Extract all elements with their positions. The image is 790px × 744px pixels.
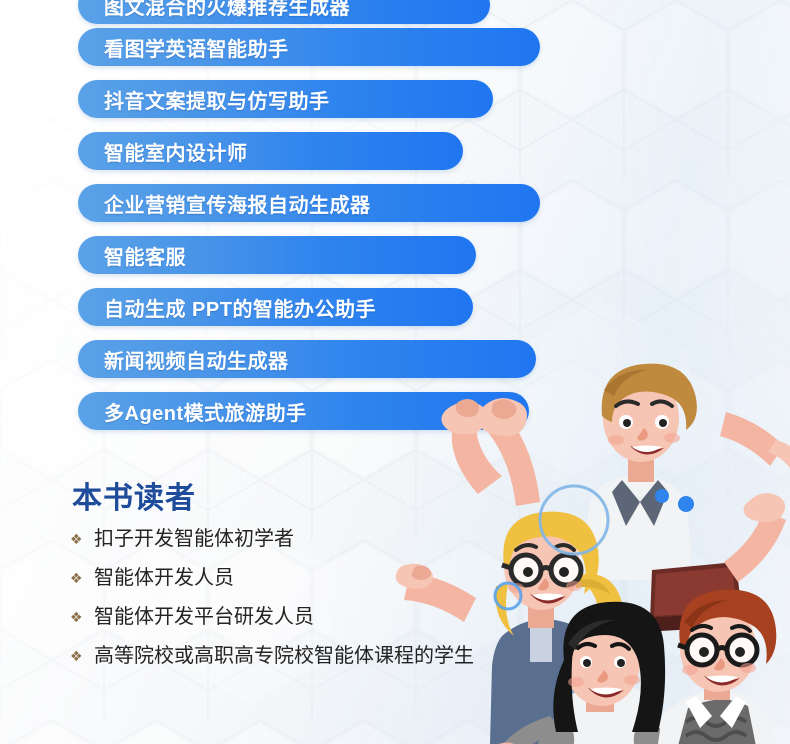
feature-pill-label: 智能室内设计师 [104, 137, 248, 166]
book-promo-page: 图文混合的火爆推荐生成器 看图学英语智能助手 抖音文案提取与仿写助手 智能室内设… [0, 0, 790, 744]
feature-pill[interactable]: 多Agent模式旅游助手 [78, 392, 529, 430]
feature-pill-label: 看图学英语智能助手 [104, 33, 289, 62]
feature-pill-label: 企业营销宣传海报自动生成器 [104, 189, 371, 218]
feature-pill-label: 自动生成 PPT的智能办公助手 [104, 293, 376, 322]
reader-list-item-label: 高等院校或高职高专院校智能体课程的学生 [94, 645, 474, 667]
feature-pill[interactable]: 企业营销宣传海报自动生成器 [78, 184, 540, 222]
reader-list-item-label: 智能体开发人员 [94, 567, 234, 589]
diamond-bullet-icon: ❖ [70, 571, 86, 585]
feature-pill[interactable]: 智能客服 [78, 236, 476, 274]
feature-pill[interactable]: 抖音文案提取与仿写助手 [78, 80, 493, 118]
diamond-bullet-icon: ❖ [70, 532, 86, 546]
reader-list-item-label: 扣子开发智能体初学者 [94, 528, 294, 550]
diamond-bullet-icon: ❖ [70, 610, 86, 624]
feature-pill-label: 多Agent模式旅游助手 [104, 397, 307, 426]
book-readers-section: 本书读者 ❖ 扣子开发智能体初学者 ❖ 智能体开发人员 ❖ 智能体开发平台研发人… [70, 484, 474, 684]
feature-pill[interactable]: 智能室内设计师 [78, 132, 463, 170]
feature-pill-label: 智能客服 [104, 241, 186, 270]
reader-list-item: ❖ 高等院校或高职高专院校智能体课程的学生 [70, 645, 474, 667]
feature-pill-label: 新闻视频自动生成器 [104, 345, 289, 374]
readers-section-title: 本书读者 [72, 484, 474, 514]
diamond-bullet-icon: ❖ [70, 649, 86, 663]
feature-pill[interactable]: 图文混合的火爆推荐生成器 [78, 0, 490, 24]
reader-list-item: ❖ 智能体开发人员 [70, 567, 474, 589]
reader-list-item: ❖ 智能体开发平台研发人员 [70, 606, 474, 628]
reader-list-item: ❖ 扣子开发智能体初学者 [70, 528, 474, 550]
feature-pill[interactable]: 看图学英语智能助手 [78, 28, 540, 66]
reader-list-item-label: 智能体开发平台研发人员 [94, 606, 314, 628]
feature-pill-label: 抖音文案提取与仿写助手 [104, 85, 330, 114]
feature-pill[interactable]: 自动生成 PPT的智能办公助手 [78, 288, 473, 326]
feature-pill[interactable]: 新闻视频自动生成器 [78, 340, 536, 378]
feature-pill-label: 图文混合的火爆推荐生成器 [104, 0, 350, 20]
